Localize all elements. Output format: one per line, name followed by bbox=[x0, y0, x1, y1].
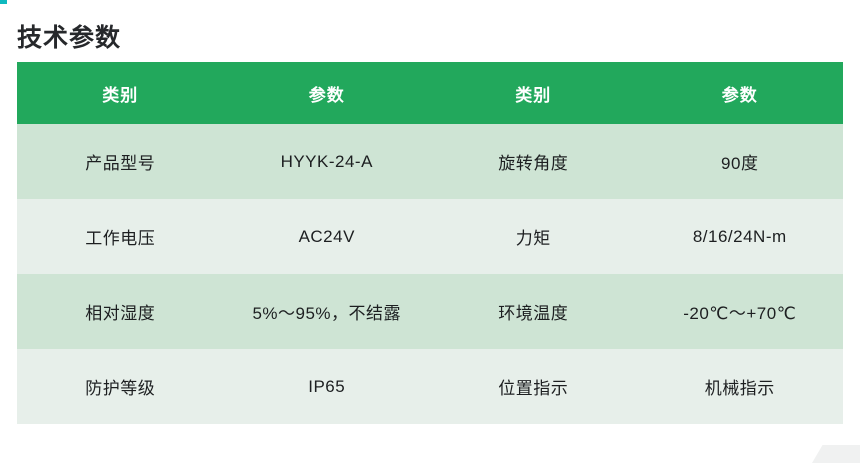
table-row: 产品型号 HYYK-24-A 旋转角度 90度 bbox=[17, 124, 843, 199]
table-header: 类别 参数 类别 参数 bbox=[17, 62, 843, 124]
cell-label: 相对湿度 bbox=[17, 274, 224, 349]
page-title: 技术参数 bbox=[17, 21, 121, 55]
corner-accent-mark bbox=[0, 0, 7, 4]
table-row: 防护等级 IP65 位置指示 机械指示 bbox=[17, 349, 843, 424]
column-header-parameter-right: 参数 bbox=[637, 62, 844, 124]
cell-value: AC24V bbox=[224, 199, 431, 274]
cell-value: 5%～95%，不结露 bbox=[224, 274, 431, 349]
cell-label: 工作电压 bbox=[17, 199, 224, 274]
cell-label: 旋转角度 bbox=[430, 124, 637, 199]
cell-label: 环境温度 bbox=[430, 274, 637, 349]
cell-label: 防护等级 bbox=[17, 349, 224, 424]
column-header-category-right: 类别 bbox=[430, 62, 637, 124]
column-header-parameter-left: 参数 bbox=[224, 62, 431, 124]
cell-label: 力矩 bbox=[430, 199, 637, 274]
table-header-row: 类别 参数 类别 参数 bbox=[17, 62, 843, 124]
cell-value: HYYK-24-A bbox=[224, 124, 431, 199]
cell-label: 位置指示 bbox=[430, 349, 637, 424]
corner-page-artifact bbox=[812, 445, 860, 463]
cell-value: 8/16/24N-m bbox=[637, 199, 844, 274]
cell-value: -20℃～+70℃ bbox=[637, 274, 844, 349]
cell-value: IP65 bbox=[224, 349, 431, 424]
technical-parameters-table: 类别 参数 类别 参数 产品型号 HYYK-24-A 旋转角度 90度 工作电压… bbox=[17, 62, 843, 424]
table-row: 工作电压 AC24V 力矩 8/16/24N-m bbox=[17, 199, 843, 274]
cell-value: 机械指示 bbox=[637, 349, 844, 424]
column-header-category-left: 类别 bbox=[17, 62, 224, 124]
cell-label: 产品型号 bbox=[17, 124, 224, 199]
table-row: 相对湿度 5%～95%，不结露 环境温度 -20℃～+70℃ bbox=[17, 274, 843, 349]
table-body: 产品型号 HYYK-24-A 旋转角度 90度 工作电压 AC24V 力矩 8/… bbox=[17, 124, 843, 424]
cell-value: 90度 bbox=[637, 124, 844, 199]
